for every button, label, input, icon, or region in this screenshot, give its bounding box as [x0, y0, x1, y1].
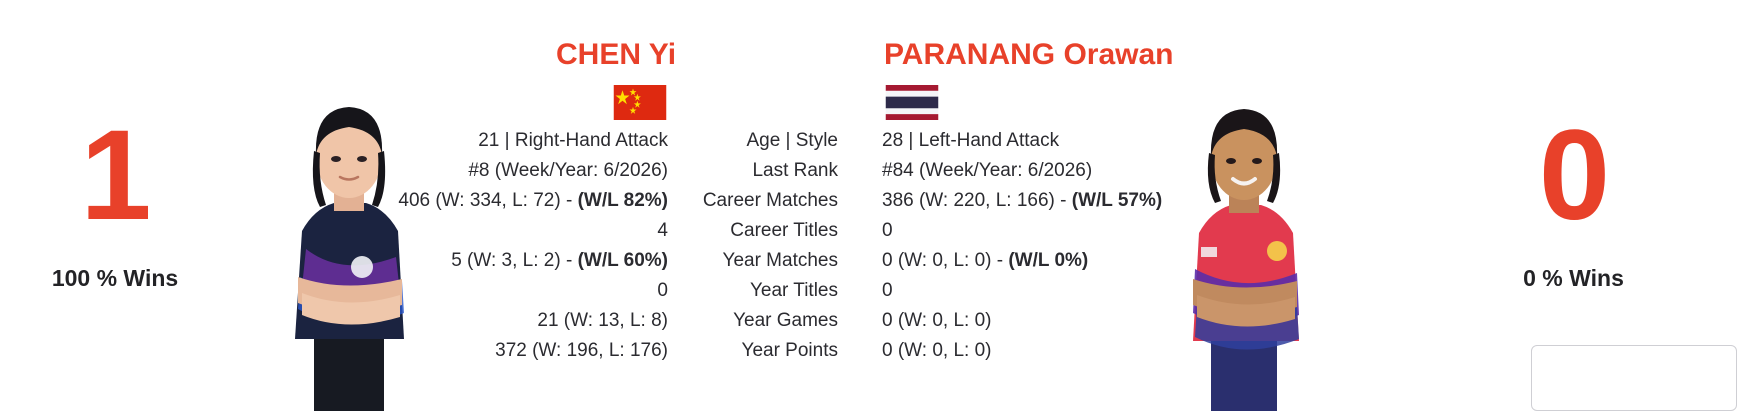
stat-label: Year Matches	[560, 246, 838, 276]
left-player-name: CHEN Yi	[556, 38, 676, 72]
stat-label: Year Points	[560, 336, 838, 366]
right-wins-label: 0 % Wins	[1410, 265, 1737, 292]
stat-label: Career Titles	[560, 216, 838, 246]
head-to-head-panel: 1 100 % Wins	[0, 0, 1737, 411]
thailand-flag	[884, 84, 940, 121]
right-stat-value: 0 (W: 0, L: 0)	[882, 306, 1402, 336]
right-stat-value: 0	[882, 276, 1402, 306]
china-flag	[612, 84, 668, 121]
stat-label: Age | Style	[560, 126, 838, 156]
right-stat-value: 0 (W: 0, L: 0)	[882, 336, 1402, 366]
stat-label: Year Games	[560, 306, 838, 336]
right-stat-value: 386 (W: 220, L: 166) - (W/L 57%)	[882, 186, 1402, 216]
right-stat-value: 0	[882, 216, 1402, 246]
stat-label: Year Titles	[560, 276, 838, 306]
right-stat-value: 28 | Left-Hand Attack	[882, 126, 1402, 156]
right-stat-value: #84 (Week/Year: 6/2026)	[882, 156, 1402, 186]
corner-panel-fragment	[1531, 345, 1737, 411]
right-stat-value: 0 (W: 0, L: 0) - (W/L 0%)	[882, 246, 1402, 276]
right-big-score: 0	[1410, 112, 1737, 240]
stat-label: Last Rank	[560, 156, 838, 186]
stat-label: Career Matches	[560, 186, 838, 216]
right-player-name: PARANANG Orawan	[884, 38, 1173, 72]
